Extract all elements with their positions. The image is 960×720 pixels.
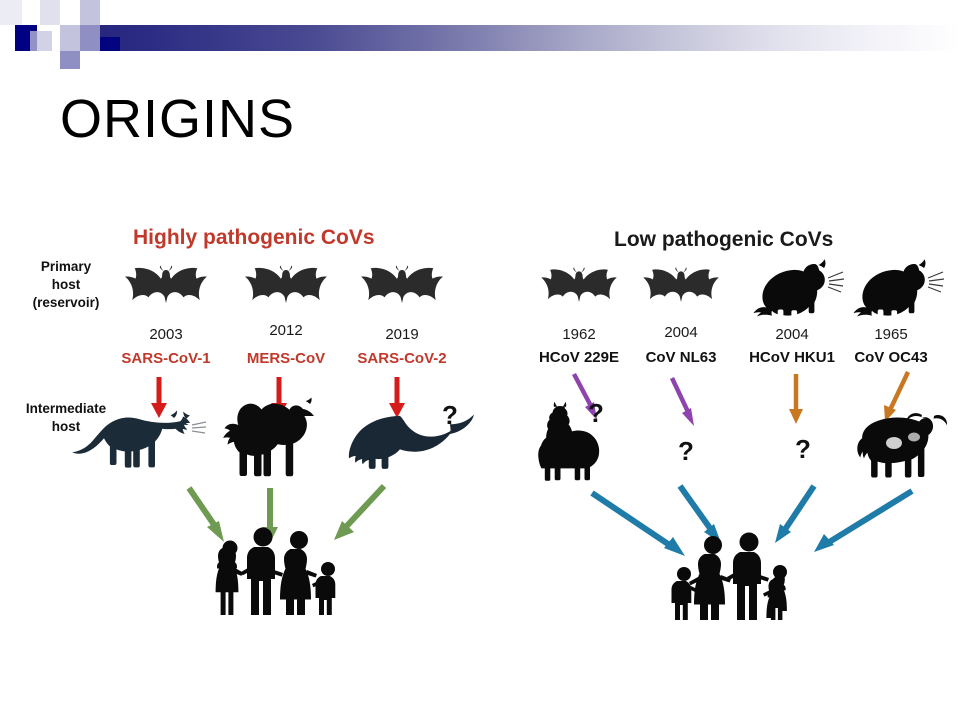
panel-title-highly-pathogenic: Highly pathogenic CoVs (133, 226, 375, 250)
year-label: 1965 (841, 326, 941, 343)
unknown-host-question-mark: ? (678, 436, 694, 467)
unknown-host-question-mark: ? (588, 398, 604, 429)
year-label: 2003 (116, 326, 216, 343)
year-label: 1962 (529, 326, 629, 343)
year-label: 2012 (236, 322, 336, 339)
cow-icon (856, 406, 956, 478)
banner-square-decor (100, 37, 120, 51)
row-label-line: host (14, 276, 118, 294)
year-label: 2004 (742, 326, 842, 343)
human-host-family-left (212, 525, 342, 617)
banner-square-decor (80, 37, 100, 51)
civet-icon (70, 405, 206, 477)
unknown-host-question-mark: ? (442, 400, 458, 431)
bat-icon (242, 262, 330, 314)
human-host-family-right (668, 530, 798, 622)
banner-square-decor (80, 0, 100, 25)
reservoir-to-intermediate-arrow (666, 376, 700, 434)
bat-icon (122, 262, 210, 314)
year-label: 2019 (352, 326, 452, 343)
row-label-line: (reservoir) (14, 294, 118, 312)
bat-icon (538, 264, 620, 312)
banner-square-decor (40, 0, 60, 25)
bat-icon (358, 262, 446, 314)
banner-square-decor (60, 51, 80, 69)
banner-square-decor (60, 37, 80, 51)
virus-label: SARS-CoV-2 (332, 350, 472, 367)
bat-icon (640, 264, 722, 312)
virus-label: SARS-CoV-1 (96, 350, 236, 367)
origins-diagram: Highly pathogenic CoVs Low pathogenic Co… (0, 200, 960, 670)
rodent-icon (852, 258, 944, 316)
camel-icon (218, 396, 330, 478)
banner-square-decor (30, 31, 52, 51)
banner-square-decor (0, 0, 22, 25)
slide-title: ORIGINS (60, 88, 295, 150)
reservoir-to-intermediate-arrow (786, 372, 808, 428)
virus-label: CoV OC43 (831, 349, 951, 366)
row-label-primary-host: Primary host (reservoir) (14, 258, 118, 311)
panel-title-low-pathogenic: Low pathogenic CoVs (614, 228, 833, 252)
virus-label: CoV NL63 (621, 349, 741, 366)
slide-header-banner (0, 0, 960, 60)
rodent-icon (752, 258, 844, 316)
banner-gradient-bar (60, 25, 960, 51)
row-label-line: Primary (14, 258, 118, 276)
year-label: 2004 (631, 324, 731, 341)
unknown-host-question-mark: ? (795, 434, 811, 465)
intermediate-to-human-arrow (800, 488, 918, 566)
